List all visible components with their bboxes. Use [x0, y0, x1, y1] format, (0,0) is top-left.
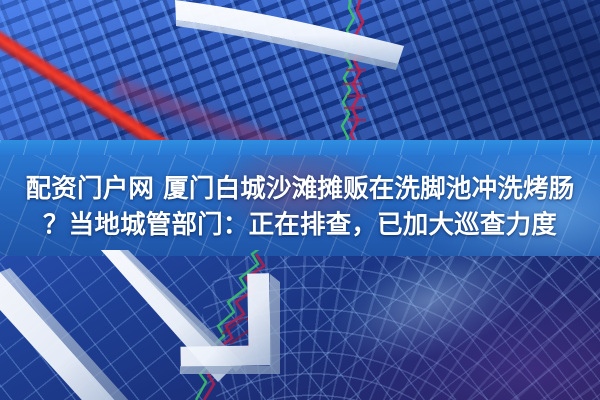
news-thumbnail-image: 配资门户网 厦门白城沙滩摊贩在洗脚池冲洗烤肠 ？当地城管部门：正在排查，已加大巡… [0, 0, 600, 400]
headline-backdrop-light-glow [340, 155, 600, 256]
white-arrow-down-right-icon [0, 250, 600, 400]
white-arrow-right-icon [0, 0, 600, 142]
headline-backdrop [0, 155, 600, 256]
arrow-shaft-lower-left [0, 268, 130, 400]
background-top-bar-grid-section [0, 0, 600, 142]
